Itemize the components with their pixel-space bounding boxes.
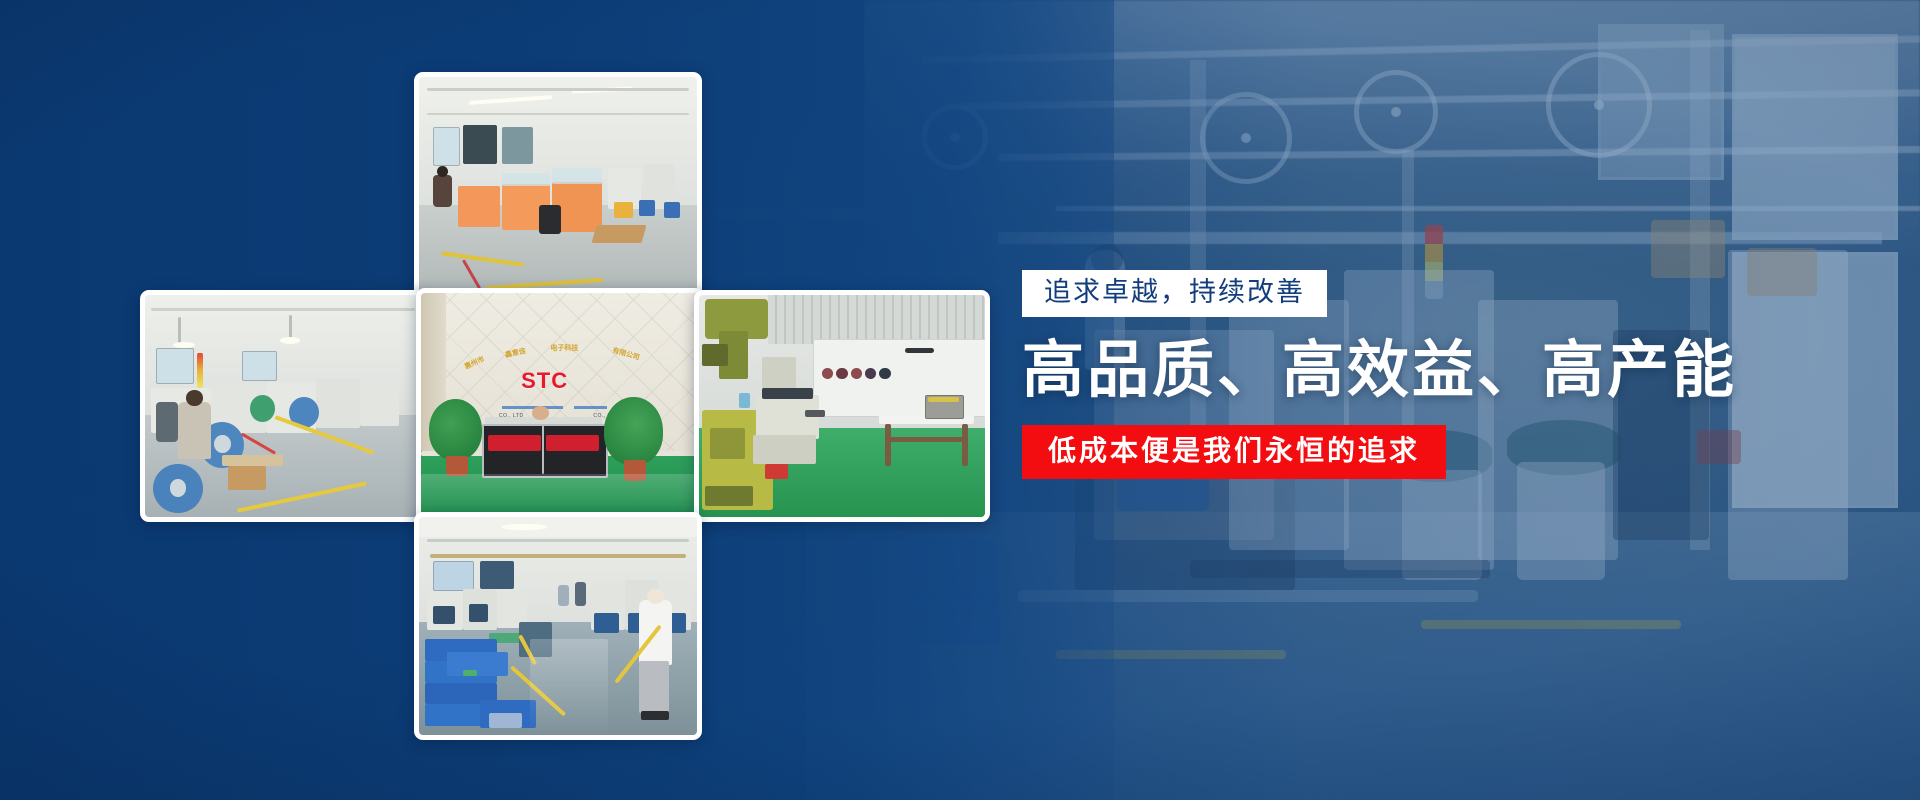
collage-photo-top[interactable] [414,72,702,310]
hero-tagline: 追求卓越，持续改善 [1022,270,1327,317]
collage-photo-right[interactable] [694,290,990,522]
center-photo-logo: STC [521,368,568,394]
collage-photo-left[interactable] [140,290,426,522]
hero-copy: 追求卓越，持续改善 高品质、高效益、高产能 低成本便是我们永恒的追求 [1022,270,1662,479]
collage-photo-bottom[interactable] [414,512,702,740]
hero-headline: 高品质、高效益、高产能 [1022,336,1662,407]
collage-photo-center[interactable]: 惠州市 鑫意佳 电子科技 有限公司 STC CO., LTD CO., LTD [416,288,704,524]
hero-banner: 惠州市 鑫意佳 电子科技 有限公司 STC CO., LTD CO., LTD [0,0,1920,800]
photo-collage: 惠州市 鑫意佳 电子科技 有限公司 STC CO., LTD CO., LTD [0,0,1060,800]
hero-subbar: 低成本便是我们永恒的追求 [1022,425,1446,479]
